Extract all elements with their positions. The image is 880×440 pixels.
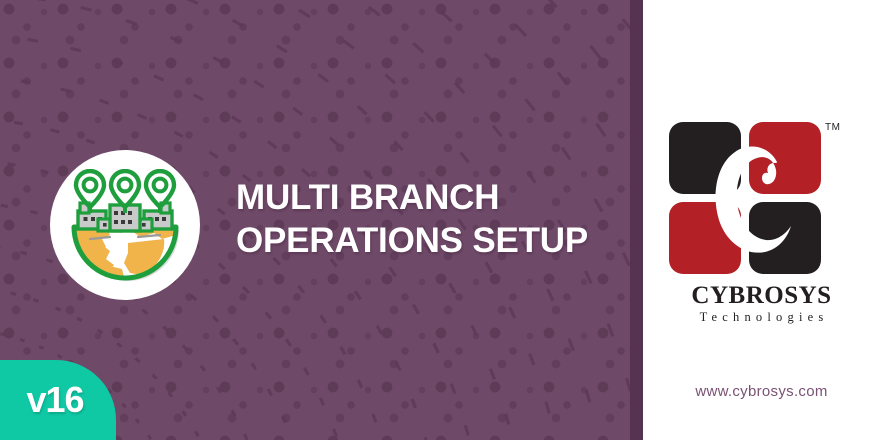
multi-branch-globe-icon bbox=[50, 150, 200, 300]
page-title-line-2: OPERATIONS SETUP bbox=[236, 219, 616, 262]
panel-divider bbox=[630, 0, 643, 440]
brand-name: CYBROSYS bbox=[643, 282, 880, 310]
website-url: www.cybrosys.com bbox=[643, 383, 880, 400]
trademark-symbol: TM bbox=[825, 122, 840, 133]
brand-tagline: Technologies bbox=[643, 310, 880, 325]
version-badge-label: v16 bbox=[26, 379, 83, 421]
cybrosys-logo-icon bbox=[665, 118, 825, 278]
right-white-panel: TM CYBROSYS Technologies www.cybrosys.co… bbox=[643, 0, 880, 440]
left-purple-panel: MULTI BRANCH OPERATIONS SETUP v16 bbox=[0, 0, 643, 440]
page-title-line-1: MULTI BRANCH bbox=[236, 176, 616, 219]
promo-banner: MULTI BRANCH OPERATIONS SETUP v16 TM CYB… bbox=[0, 0, 880, 440]
page-title: MULTI BRANCH OPERATIONS SETUP bbox=[236, 176, 616, 262]
